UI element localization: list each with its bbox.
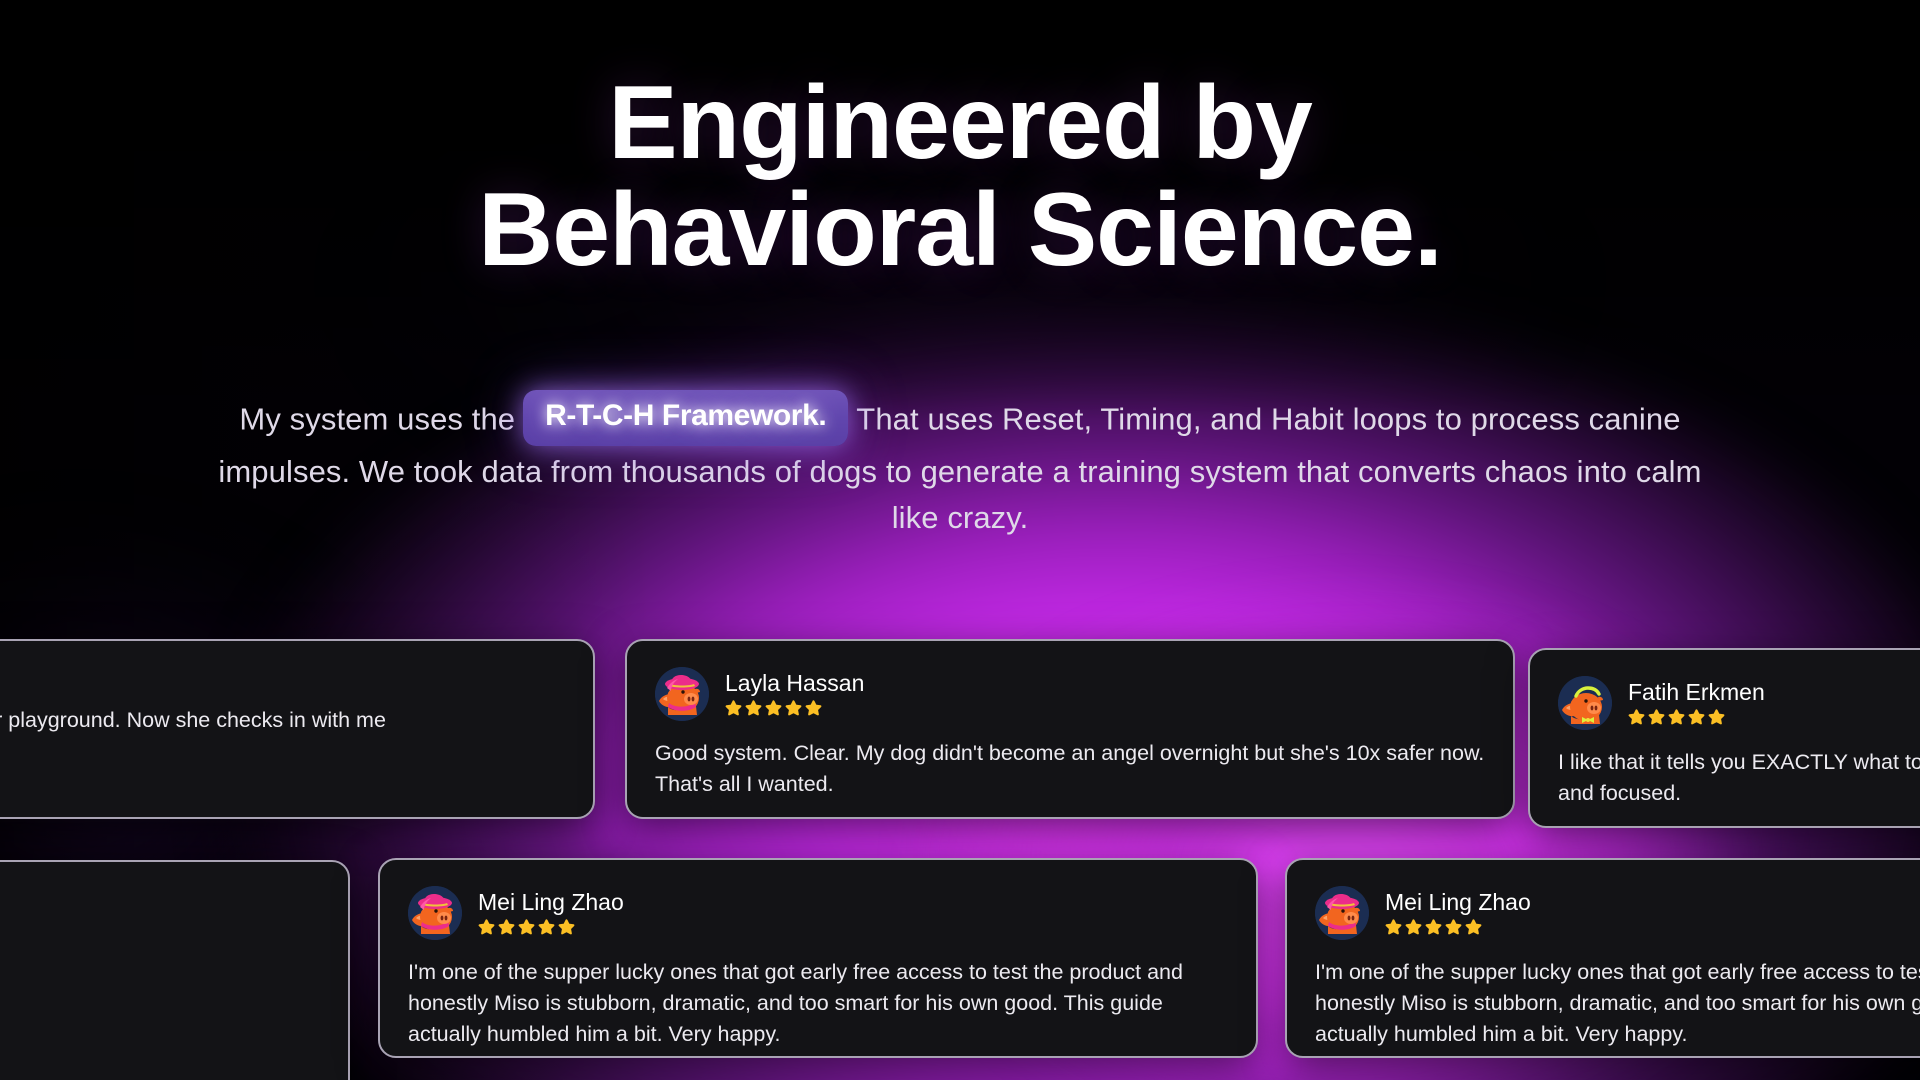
testimonial-text: I like that it tells you EXACTLY what to…: [1558, 747, 1920, 809]
headline-line-1: Engineered by: [0, 70, 1920, 177]
testimonial-author-name: Mei Ling Zhao: [478, 890, 624, 915]
testimonial-card[interactable]: Fatih Erkmen I like that it tells you EX…: [1528, 648, 1920, 828]
testimonial-header: Mei Ling Zhao: [408, 886, 1228, 940]
star-icon: [1668, 709, 1685, 726]
star-icon: [1385, 919, 1402, 936]
rtch-framework-badge: R-T-C-H Framework.: [523, 390, 848, 446]
testimonial-author-name: Layla Hassan: [725, 671, 864, 696]
testimonial-text: I'm one of the supper lucky ones that go…: [408, 957, 1228, 1050]
headline-line-2: Behavioral Science.: [0, 177, 1920, 284]
star-icon: [785, 700, 802, 717]
star-icon: [805, 700, 822, 717]
hero-subtitle: My system uses theR-T-C-H Framework.That…: [210, 393, 1710, 541]
testimonial-author-name: Mei Ling Zhao: [1385, 890, 1531, 915]
star-icon: [518, 919, 535, 936]
pig-angel-avatar-icon: [1558, 676, 1612, 730]
star-icon: [1405, 919, 1422, 936]
testimonial-card[interactable]: Layla Hassan Good system. Clear. My dog …: [625, 639, 1515, 819]
star-icon: [1648, 709, 1665, 726]
testimonial-header: Layla Hassan: [655, 667, 1485, 721]
page-title: Engineered by Behavioral Science.: [0, 0, 1920, 284]
testimonial-card[interactable]: test it before the public omg it's A Goo…: [0, 860, 350, 1080]
testimonial-text: I'm one of the supper lucky ones that go…: [1315, 957, 1920, 1050]
avatar: [1315, 886, 1369, 940]
star-icon: [478, 919, 495, 936]
star-icon: [1628, 709, 1645, 726]
star-rating: [478, 919, 624, 936]
pig-cowboy-avatar-icon: [1315, 886, 1369, 940]
star-icon: [538, 919, 555, 936]
testimonial-card[interactable]: Mei Ling Zhao I'm one of the supper luck…: [1285, 858, 1920, 1058]
testimonial-card[interactable]: ole world was her playground. Now she ch…: [0, 639, 595, 819]
testimonial-card[interactable]: Mei Ling Zhao I'm one of the supper luck…: [378, 858, 1258, 1058]
avatar: [408, 886, 462, 940]
testimonial-text: ole world was her playground. Now she ch…: [0, 705, 565, 767]
star-icon: [1708, 709, 1725, 726]
star-icon: [725, 700, 742, 717]
avatar: [1558, 676, 1612, 730]
star-icon: [498, 919, 515, 936]
pig-cowboy-avatar-icon: [655, 667, 709, 721]
star-icon: [1688, 709, 1705, 726]
testimonial-text: Good system. Clear. My dog didn't become…: [655, 738, 1485, 800]
star-rating: [1385, 919, 1531, 936]
star-icon: [745, 700, 762, 717]
star-icon: [1465, 919, 1482, 936]
hero-section: Engineered by Behavioral Science. My sys…: [0, 0, 1920, 284]
star-icon: [1445, 919, 1462, 936]
star-icon: [765, 700, 782, 717]
subtitle-text-before: My system uses the: [239, 401, 515, 436]
testimonial-header: Fatih Erkmen: [1558, 676, 1920, 730]
star-icon: [1425, 919, 1442, 936]
star-icon: [558, 919, 575, 936]
testimonial-header: Mei Ling Zhao: [1315, 886, 1920, 940]
avatar: [655, 667, 709, 721]
star-rating: [725, 700, 864, 717]
testimonial-text: test it before the public omg it's A Goo…: [0, 950, 320, 1043]
testimonial-author-name: Fatih Erkmen: [1628, 680, 1765, 705]
star-rating: [1628, 709, 1765, 726]
pig-cowboy-avatar-icon: [408, 886, 462, 940]
